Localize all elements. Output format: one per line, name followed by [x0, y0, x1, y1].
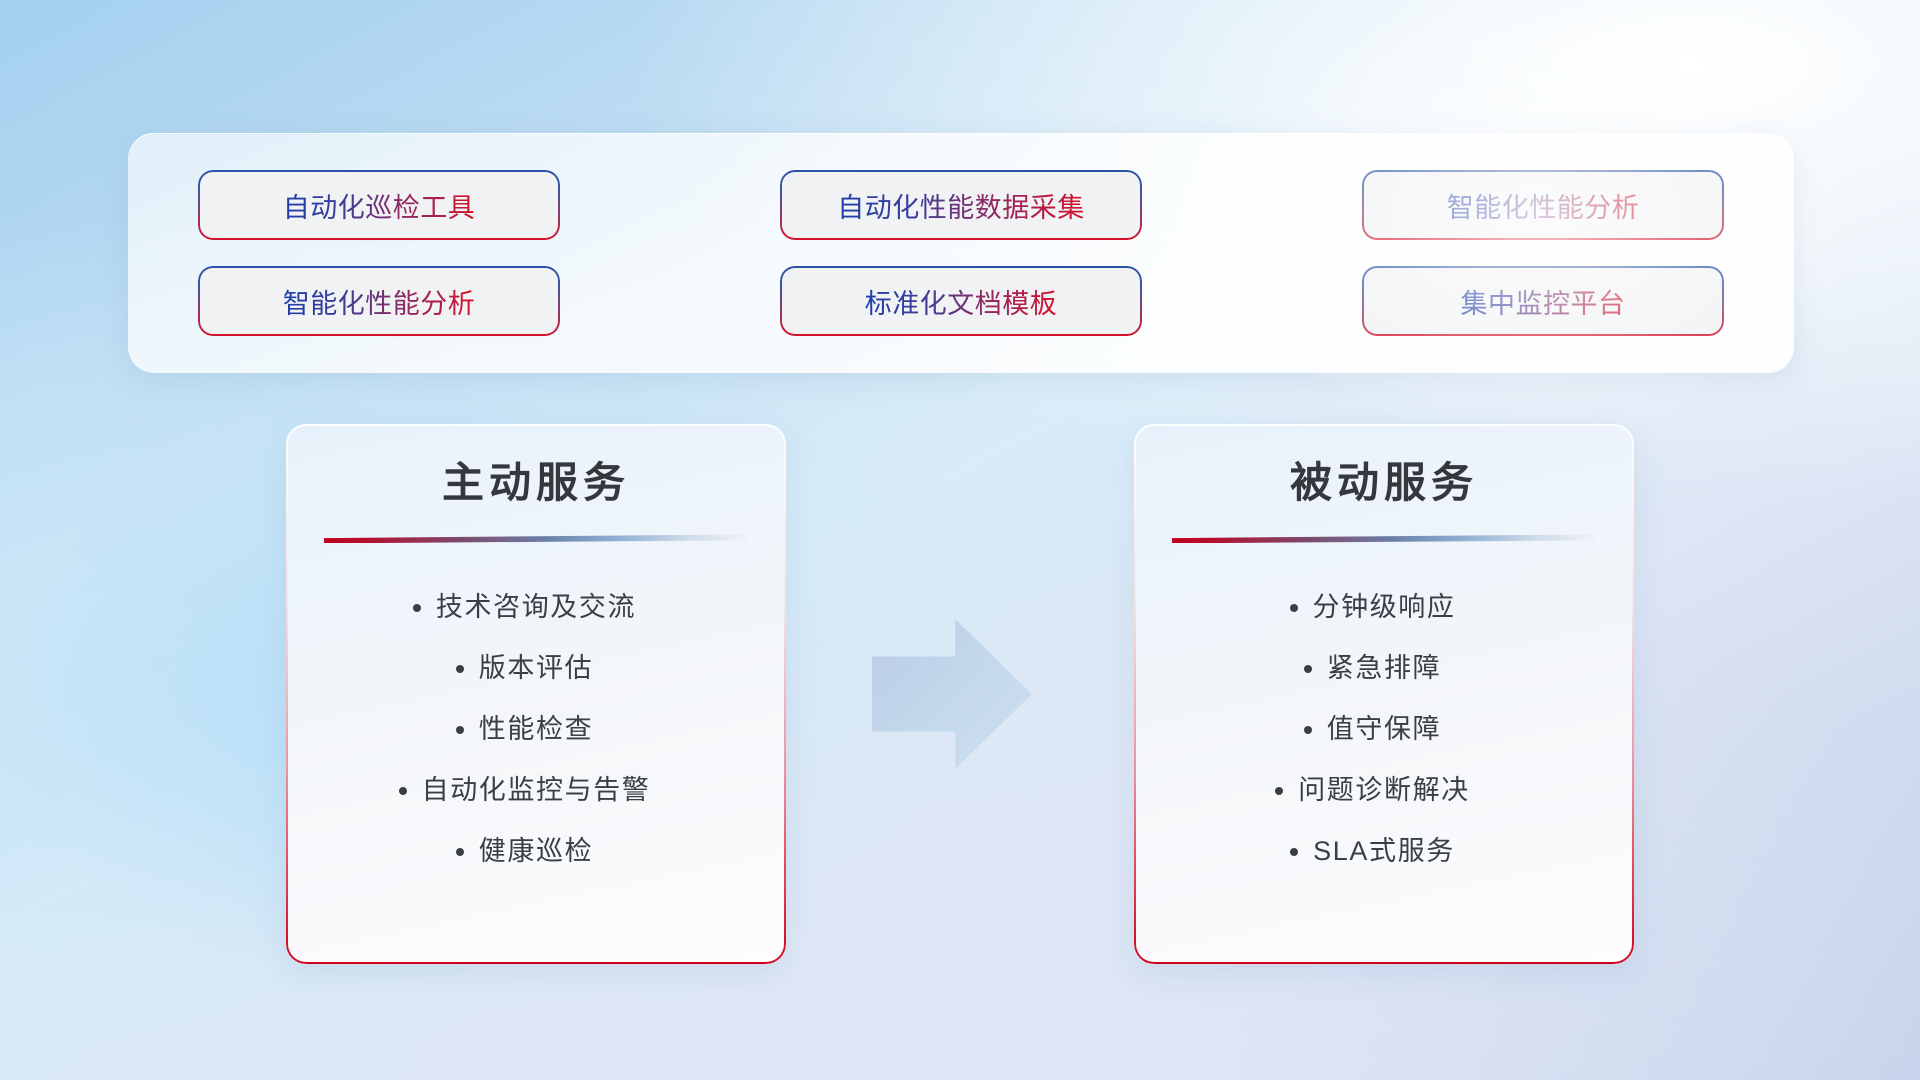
list-item: 健康巡检: [479, 821, 593, 882]
capability-pill-label: 自动化性能数据采集: [837, 186, 1085, 225]
capability-pill-intelligent-performance-analysis[interactable]: 智能化性能分析: [1364, 172, 1722, 238]
service-card-proactive: 主动服务 技术咨询及交流 版本评估 性能检查 自动化监控与告警 健康巡检: [286, 424, 786, 964]
capability-pill-label: 智能化性能分析: [1447, 186, 1640, 225]
capability-pill-automated-inspection-tool[interactable]: 自动化巡检工具: [200, 172, 558, 238]
list-item: 技术咨询及交流: [436, 577, 636, 638]
list-item: 自动化监控与告警: [422, 760, 651, 821]
card-item-list: 技术咨询及交流 版本评估 性能检查 自动化监控与告警 健康巡检: [316, 577, 756, 882]
capability-row-2: 智能化性能分析 标准化文档模板 集中监控平台: [200, 268, 1722, 334]
list-item: 问题诊断解决: [1298, 760, 1470, 821]
card-title: 主动服务: [442, 458, 630, 508]
list-item: 版本评估: [479, 638, 593, 699]
slide-canvas: 自动化巡检工具 自动化性能数据采集 智能化性能分析 智能化性能分析 标准化文档模…: [0, 0, 1920, 1080]
capability-pill-label: 自动化巡检工具: [283, 186, 476, 225]
capability-pill-intelligent-performance-analysis-2[interactable]: 智能化性能分析: [200, 268, 558, 334]
capability-pill-label: 智能化性能分析: [283, 282, 476, 321]
capability-pill-centralized-monitoring-platform[interactable]: 集中监控平台: [1364, 268, 1722, 334]
capability-pill-label: 集中监控平台: [1461, 282, 1626, 321]
card-item-list: 分钟级响应 紧急排障 值守保障 问题诊断解决 SLA式服务: [1164, 577, 1604, 882]
card-divider: [324, 534, 748, 543]
capability-panel: 自动化巡检工具 自动化性能数据采集 智能化性能分析 智能化性能分析 标准化文档模…: [128, 133, 1794, 373]
list-item: 紧急排障: [1327, 638, 1441, 699]
capability-pill-automated-performance-data-collection[interactable]: 自动化性能数据采集: [782, 172, 1140, 238]
list-item: 性能检查: [479, 699, 593, 760]
list-item: 值守保障: [1327, 699, 1441, 760]
card-title: 被动服务: [1290, 458, 1478, 508]
capability-pill-label: 标准化文档模板: [865, 282, 1058, 321]
card-divider: [1172, 534, 1596, 543]
capability-row-1: 自动化巡检工具 自动化性能数据采集 智能化性能分析: [200, 172, 1722, 238]
list-item: 分钟级响应: [1313, 577, 1456, 638]
arrow-right-icon: [872, 616, 1032, 772]
capability-pill-standardized-document-template[interactable]: 标准化文档模板: [782, 268, 1140, 334]
service-card-reactive: 被动服务 分钟级响应 紧急排障 值守保障 问题诊断解决 SLA式服务: [1134, 424, 1634, 964]
list-item: SLA式服务: [1313, 821, 1455, 882]
